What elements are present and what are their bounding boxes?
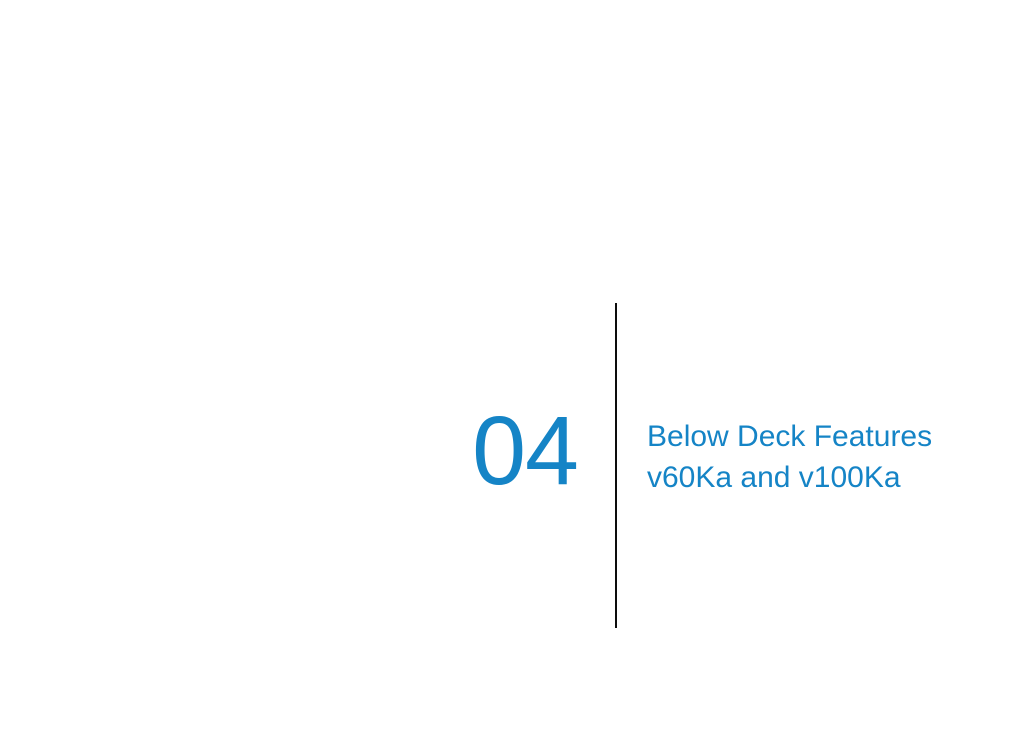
section-number: 04 [300, 403, 578, 499]
section-title-line-1: Below Deck Features [647, 416, 997, 457]
section-title: Below Deck Features v60Ka and v100Ka [647, 416, 997, 498]
section-title-line-2: v60Ka and v100Ka [647, 457, 997, 498]
section-heading-block: 04 Below Deck Features v60Ka and v100Ka [0, 303, 1024, 628]
section-divider-slide: 04 Below Deck Features v60Ka and v100Ka [0, 0, 1024, 748]
vertical-divider-rule [615, 303, 617, 628]
